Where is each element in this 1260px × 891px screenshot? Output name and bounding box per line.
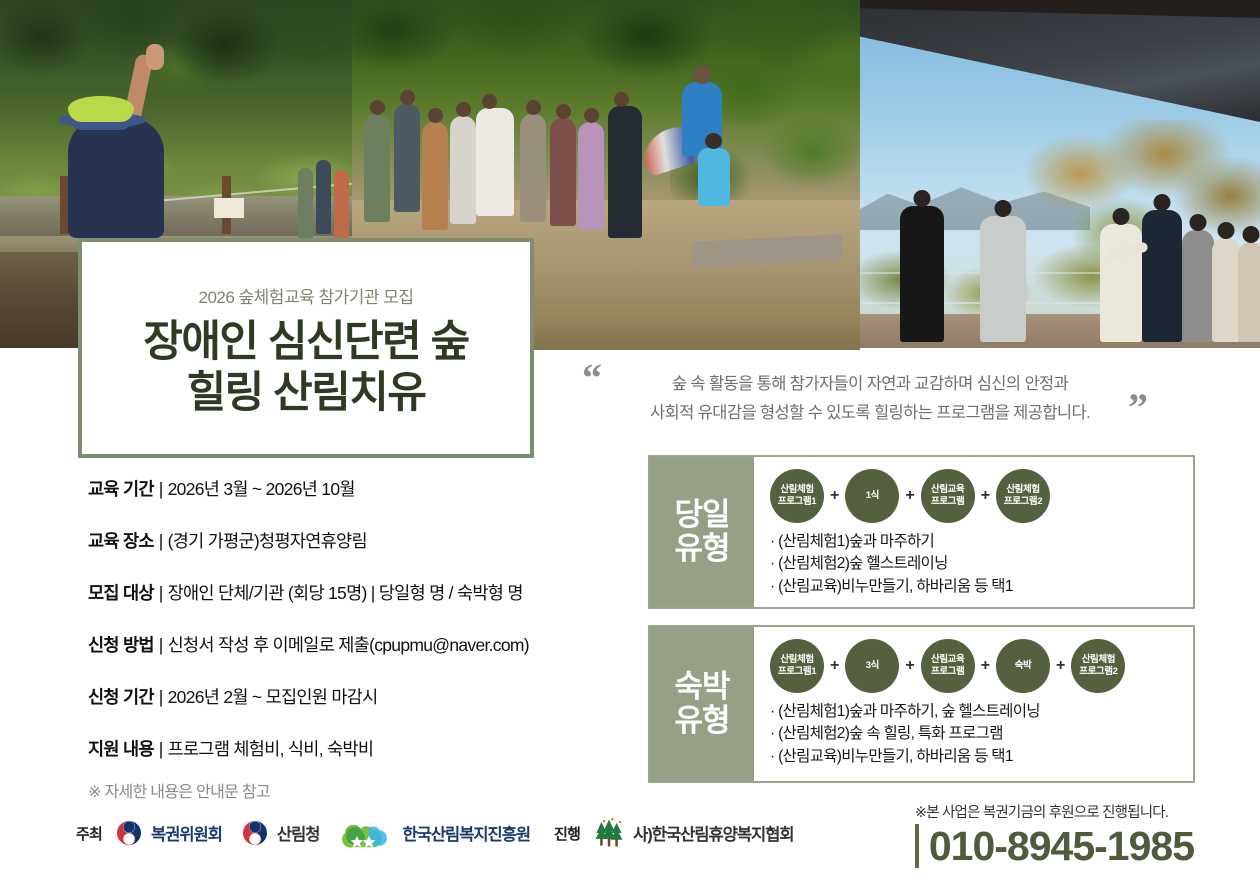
info-label: 신청 방법 — [88, 632, 154, 657]
info-label: 신청 기간 — [88, 684, 154, 709]
chip-line-2: 프로그램2 — [1079, 666, 1117, 678]
deck-visitors — [860, 192, 1260, 342]
info-separator: | — [159, 479, 163, 500]
title-box: 2026 숲체험교육 참가기관 모집 장애인 심신단련 숲 힐링 산림치유 — [78, 238, 534, 458]
info-value: 장애인 단체/기관 (회당 15명) | 당일형 명 / 숙박형 명 — [168, 580, 523, 605]
org-name: 사)한국산림휴양복지협회 — [633, 821, 793, 845]
plus-icon: + — [905, 487, 914, 505]
info-label: 교육 기간 — [88, 476, 154, 501]
taegeuk-icon — [114, 818, 144, 848]
plus-icon: + — [981, 487, 990, 505]
info-row-application-method: 신청 방법 | 신청서 작성 후 이메일로 제출(cpupmu@naver.co… — [88, 632, 628, 657]
info-row-application-period: 신청 기간 | 2026년 2월 ~ 모집인원 마감시 — [88, 684, 628, 709]
shelter-roof — [860, 0, 1260, 122]
chip-three-meals: 3식 — [845, 639, 899, 693]
bullet-item: · (산림체험1)숲과 마주하기, 숲 헬스트레이닝 — [770, 701, 1183, 723]
chip-line-1: 산림체험 — [1004, 484, 1042, 496]
title-line-2: 힐링 산림치유 — [143, 368, 468, 419]
info-separator: | — [159, 583, 163, 604]
title-line-1: 장애인 심신단련 숲 — [143, 317, 468, 368]
program-info-list: 교육 기간 | 2026년 3월 ~ 2026년 10월 교육 장소 | (경기… — [88, 476, 628, 802]
photo-observation-deck-view — [860, 0, 1260, 348]
quote-text: 숲 속 활동을 통해 참가자들이 자연과 교감하며 심신의 안정과 사회적 유대… — [580, 356, 1160, 428]
chip-line-1: 3식 — [866, 660, 879, 672]
green-cap — [68, 96, 134, 122]
info-row-education-period: 교육 기간 | 2026년 3월 ~ 2026년 10월 — [88, 476, 628, 501]
type-body-day: 산림체험 프로그램1 + 1식 + 산림교육 프로그램 + — [754, 457, 1193, 607]
person-figure — [1142, 210, 1182, 342]
info-separator: | — [159, 739, 163, 760]
info-label: 모집 대상 — [88, 580, 154, 605]
info-label: 교육 장소 — [88, 528, 154, 553]
org-korea-forest-service: 산림청 — [240, 818, 320, 848]
quote-line-1: 숲 속 활동을 통해 참가자들이 자연과 교감하며 심신의 안정과 — [622, 370, 1118, 399]
person-figure — [980, 216, 1026, 342]
person-figure — [334, 170, 349, 244]
program-type-stay: 숙박 유형 산림체험 프로그램1 + 3식 + 산림교육 — [648, 625, 1195, 783]
chip-forest-experience-1: 산림체험 프로그램1 — [770, 639, 824, 693]
type-label-line-2: 유형 — [674, 532, 729, 566]
person-figure — [900, 206, 944, 342]
person-figure — [450, 116, 476, 224]
info-label: 지원 내용 — [88, 736, 154, 761]
plus-icon: + — [830, 487, 839, 505]
pine-trees-icon — [592, 817, 626, 849]
chip-forest-education: 산림교육 프로그램 — [921, 639, 975, 693]
info-separator: | — [159, 635, 163, 656]
plus-icon: + — [830, 657, 839, 675]
bullet-item: · (산림교육)비누만들기, 하바리움 등 택1 — [770, 746, 1183, 768]
chip-line-2: 프로그램 — [931, 496, 964, 508]
info-value: 프로그램 체험비, 식비, 숙박비 — [168, 736, 374, 761]
host-caption: 주최 — [76, 823, 102, 844]
org-name: 한국산림복지진흥원 — [402, 821, 530, 845]
bullet-item: · (산림체험2)숲 헬스트레이닝 — [770, 553, 1183, 575]
chip-forest-experience-2: 산림체험 프로그램2 — [996, 469, 1050, 523]
funding-note: ※본 사업은 복권기금의 후원으로 진행됩니다. — [915, 801, 1194, 822]
person-figure — [316, 160, 331, 234]
bullet-item: · (산림교육)비누만들기, 하바리움 등 택1 — [770, 576, 1183, 598]
chip-line-1: 산림교육 — [931, 654, 964, 666]
person-figure — [1100, 224, 1142, 342]
chip-line-2: 프로그램1 — [778, 666, 816, 678]
info-row-support-content: 지원 내용 | 프로그램 체험비, 식비, 숙박비 — [88, 736, 628, 761]
info-value: 신청서 작성 후 이메일로 제출(cpupmu@naver.com) — [168, 632, 529, 657]
program-bullets-stay: · (산림체험1)숲과 마주하기, 숲 헬스트레이닝 · (산림체험2)숲 속 … — [770, 701, 1183, 768]
person-figure — [550, 118, 576, 226]
quote-open-icon: “ — [582, 358, 602, 398]
plus-icon: + — [905, 657, 914, 675]
contact-block: ※본 사업은 복권기금의 후원으로 진행됩니다. 010-8945-1985 — [915, 801, 1194, 868]
forest-welfare-icon — [337, 818, 395, 848]
program-chain-day: 산림체험 프로그램1 + 1식 + 산림교육 프로그램 + — [770, 469, 1183, 523]
chip-line-1: 산림체험 — [1079, 654, 1117, 666]
info-row-education-place: 교육 장소 | (경기 가평군)청평자연휴양림 — [88, 528, 628, 553]
program-bullets-day: · (산림체험1)숲과 마주하기 · (산림체험2)숲 헬스트레이닝 · (산림… — [770, 531, 1183, 598]
quote-line-2: 사회적 유대감을 형성할 수 있도록 힐링하는 프로그램을 제공합니다. — [622, 399, 1118, 428]
chip-forest-education: 산림교육 프로그램 — [921, 469, 975, 523]
trail-sign — [214, 198, 244, 218]
person-figure — [364, 114, 390, 222]
taegeuk-icon — [240, 818, 270, 848]
plus-icon: + — [1056, 657, 1065, 675]
program-type-day: 당일 유형 산림체험 프로그램1 + 1식 + 산림교육 — [648, 455, 1195, 609]
org-name: 복권위원회 — [151, 821, 222, 845]
person-figure — [476, 108, 514, 216]
poster-kicker: 2026 숲체험교육 참가기관 모집 — [198, 283, 413, 308]
poster-footer: 주최 복권위원회 — [0, 799, 1260, 891]
person-figure — [422, 122, 448, 230]
operator-caption: 진행 — [554, 823, 580, 844]
phone-row[interactable]: 010-8945-1985 — [915, 824, 1194, 868]
program-quote: “ ” 숲 속 활동을 통해 참가자들이 자연과 교감하며 심신의 안정과 사회… — [580, 356, 1160, 428]
page-title: 장애인 심신단련 숲 힐링 산림치유 — [143, 317, 468, 418]
chip-line-2: 프로그램 — [931, 666, 964, 678]
quote-close-icon: ” — [1128, 388, 1148, 428]
type-label-stay: 숙박 유형 — [650, 627, 754, 781]
chip-line-2: 프로그램1 — [778, 496, 816, 508]
pointing-hand — [146, 44, 164, 70]
person-figure — [578, 122, 604, 230]
type-body-stay: 산림체험 프로그램1 + 3식 + 산림교육 프로그램 + 숙박 — [754, 627, 1193, 781]
person-figure — [1238, 242, 1260, 342]
person-figure — [298, 168, 313, 242]
organizer-row: 주최 복권위원회 — [76, 817, 812, 849]
chip-line-1: 산림체험 — [778, 484, 816, 496]
org-korea-forest-welfare-institute: 한국산림복지진흥원 — [337, 818, 530, 848]
chip-lodging: 숙박 — [996, 639, 1050, 693]
chip-line-1: 산림교육 — [931, 484, 964, 496]
info-separator: | — [159, 687, 163, 708]
info-value: 2026년 2월 ~ 모집인원 마감시 — [168, 684, 378, 709]
participant-line — [364, 92, 674, 240]
phone-accent-bar — [915, 824, 919, 868]
chip-line-1: 산림체험 — [778, 654, 816, 666]
info-row-target-audience: 모집 대상 | 장애인 단체/기관 (회당 15명) | 당일형 명 / 숙박형… — [88, 580, 628, 605]
chip-forest-experience-2: 산림체험 프로그램2 — [1071, 639, 1125, 693]
org-name: 산림청 — [277, 821, 320, 845]
poster-root: 2026 숲체험교육 참가기관 모집 장애인 심신단련 숲 힐링 산림치유 “ … — [0, 0, 1260, 891]
chip-forest-experience-1: 산림체험 프로그램1 — [770, 469, 824, 523]
person-figure — [608, 106, 642, 238]
info-separator: | — [159, 531, 163, 552]
bullet-item: · (산림체험1)숲과 마주하기 — [770, 531, 1183, 553]
person-figure — [1182, 230, 1214, 342]
chip-one-meal: 1식 — [845, 469, 899, 523]
person-figure — [394, 104, 420, 212]
child-figure — [698, 148, 730, 206]
chip-line-2: 프로그램2 — [1004, 496, 1042, 508]
chip-line-1: 1식 — [866, 490, 879, 502]
person-figure — [1212, 238, 1240, 342]
type-label-line-2: 유형 — [674, 704, 729, 738]
type-label-line-1: 당일 — [674, 498, 729, 532]
type-label-line-1: 숙박 — [674, 670, 729, 704]
guide-figure — [68, 118, 164, 238]
bullet-item: · (산림체험2)숲 속 힐링, 특화 프로그램 — [770, 723, 1183, 745]
type-label-day: 당일 유형 — [650, 457, 754, 607]
info-value: (경기 가평군)청평자연휴양림 — [168, 528, 367, 553]
chip-line-1: 숙박 — [1015, 660, 1032, 672]
plus-icon: + — [981, 657, 990, 675]
org-korea-forest-recreation-welfare-association: 사)한국산림휴양복지협회 — [592, 817, 793, 849]
info-value: 2026년 3월 ~ 2026년 10월 — [168, 476, 355, 501]
contact-phone-number[interactable]: 010-8945-1985 — [929, 826, 1194, 867]
person-figure — [520, 114, 546, 222]
program-chain-stay: 산림체험 프로그램1 + 3식 + 산림교육 프로그램 + 숙박 — [770, 639, 1183, 693]
org-lottery-commission: 복권위원회 — [114, 818, 222, 848]
